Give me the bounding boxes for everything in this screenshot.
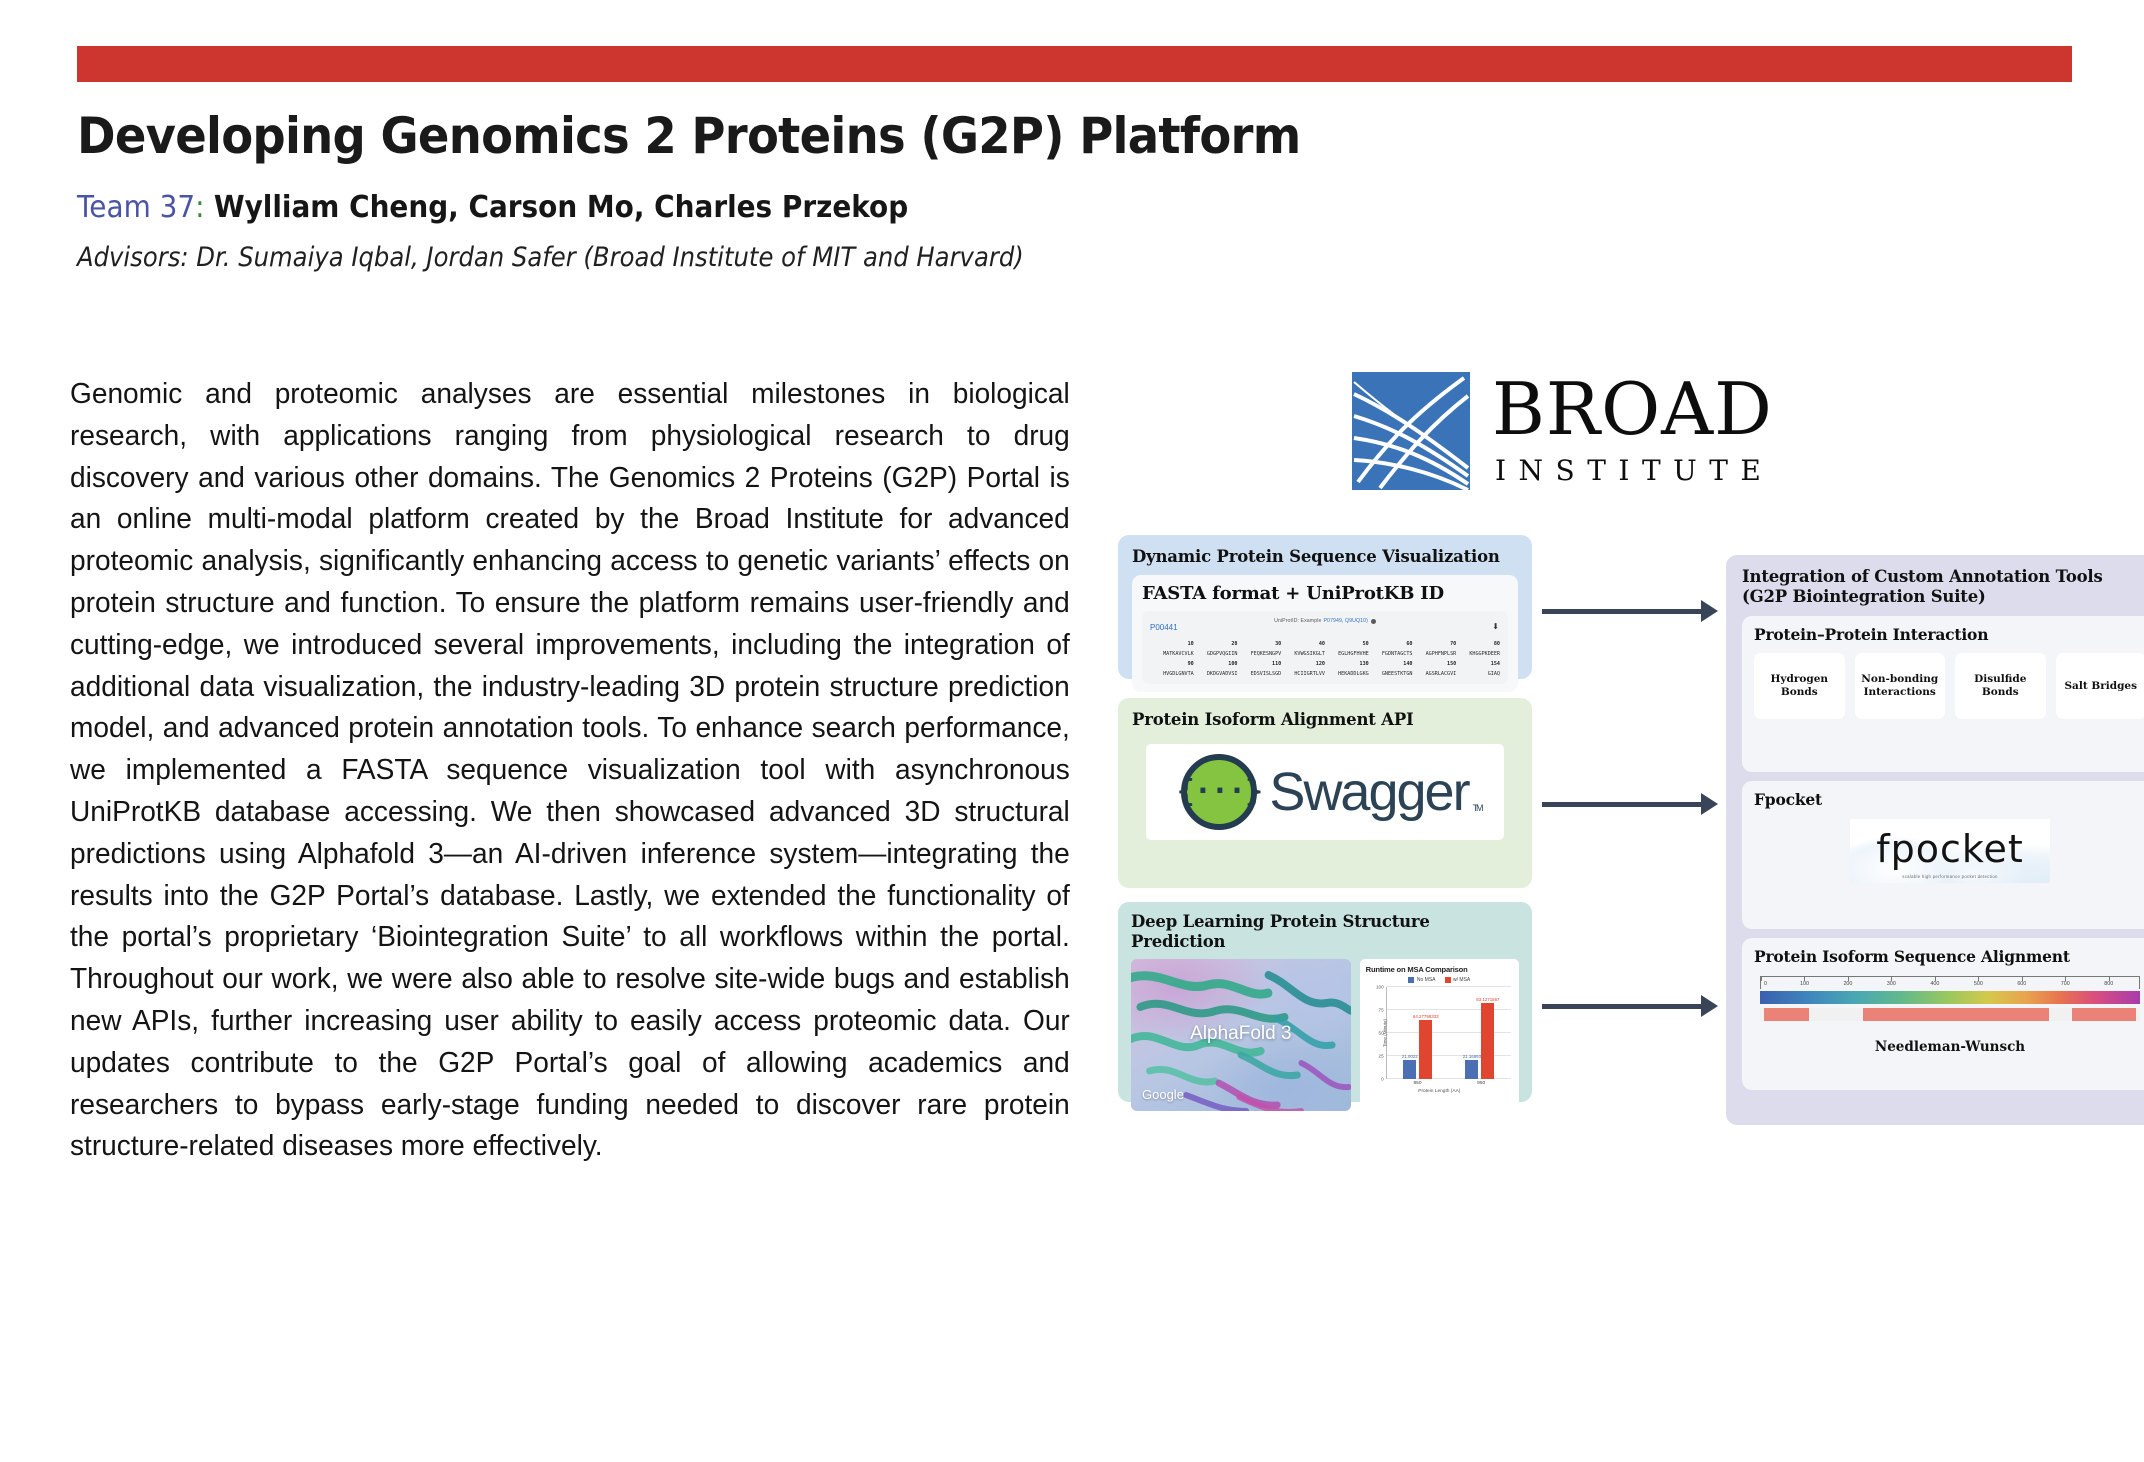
card-protein-protein-interaction: Protein–Protein Interaction Hydrogen Bon… [1742,616,2144,772]
legend-label: No MSA [1417,977,1436,983]
runtime-msa-bar-chart: Runtime on MSA Comparison No MSA w/ MSA … [1360,959,1519,1111]
seq-block: HEKADDLGKG [1325,671,1369,678]
chip-non-bonding-interactions[interactable]: Non-bonding Interactions [1855,653,1946,719]
panel-title: Dynamic Protein Sequence Visualization [1132,547,1518,567]
seq-block: KVWGSIKGLT [1281,651,1325,658]
fpocket-wordmark: fpocket [1876,830,2024,868]
chip-hydrogen-bonds[interactable]: Hydrogen Bonds [1754,653,1845,719]
card-protein-isoform-sequence-alignment: Protein Isoform Sequence Alignment 0 10 [1742,938,2144,1090]
seq-block: GIAQ [1456,671,1500,678]
chart-bar-label: 83.1271667 [1476,997,1499,1002]
alignment-hit-segment [1764,1008,1810,1021]
info-icon[interactable] [1371,619,1376,624]
google-credit-label: Google [1142,1087,1184,1102]
axis-tick [1761,977,1762,981]
header-accent-bar [77,46,2072,82]
swagger-logo: {···} Swagger TM [1146,744,1504,840]
legend-label: w/ MSA [1453,977,1470,983]
legend-item: w/ MSA [1445,977,1471,983]
poster-header: Developing Genomics 2 Proteins (G2P) Pla… [77,110,2072,273]
seq-position: 40 [1281,641,1325,648]
chart-y-tick: 100 [1376,985,1384,990]
uniprot-example-label: UniProtID: Example [1274,618,1321,624]
seq-position: 50 [1325,641,1369,648]
axis-tick-label: 800 [2104,981,2113,987]
chart-bar-label: 21.0022 [1402,1054,1418,1059]
deep-learning-content-row: AlphaFold 3 Google Runtime on MSA Compar… [1131,959,1519,1111]
alignment-hit-segment [2072,1008,2137,1021]
arrow-shaft [1542,802,1701,807]
axis-tick-label: 300 [1887,981,1896,987]
chart-y-tick: 25 [1379,1054,1384,1059]
card-title: Protein–Protein Interaction [1754,625,2144,644]
seq-block: EDSVISLSGD [1238,671,1282,678]
seq-position: 60 [1369,641,1413,648]
chart-x-axis-label: Protein Length (AA) [1366,1089,1513,1094]
broad-logo-main-text: BROAD [1492,375,1773,443]
uniprot-accession[interactable]: P00441 [1150,623,1178,632]
seq-block: HCIIGRTLVV [1281,671,1325,678]
arrow-api-to-integration [1542,793,1718,815]
author-names: Wylliam Cheng, Carson Mo, Charles Przeko… [214,190,908,225]
axis-tick-label: 400 [1930,981,1939,987]
seq-block: AGPHFNPLSR [1413,651,1457,658]
axis-tick-label: 200 [1843,981,1852,987]
chart-bar-label: 64.27798333 [1413,1014,1439,1019]
team-label: Team 37 [77,190,195,225]
seq-position: 30 [1238,641,1282,648]
page-title: Developing Genomics 2 Proteins (G2P) Pla… [77,110,1932,163]
seq-position: 70 [1413,641,1457,648]
chart-bar-group: 21.0022 64.27798333 [1403,987,1432,1079]
card-fpocket: Fpocket fpocket scalable high performanc… [1742,781,2144,929]
seq-block: KHGGPKDEER [1456,651,1500,658]
seq-position: 130 [1325,661,1369,668]
seq-block: GNEESTKTGN [1369,671,1413,678]
architecture-figure: Dynamic Protein Sequence Visualization F… [1118,535,2084,1135]
card-title: Protein Isoform Sequence Alignment [1754,947,2144,966]
swagger-mark-icon: {···} [1181,754,1257,830]
alignment-track: 0 100 200 300 400 500 600 700 800 [1760,976,2140,1021]
legend-item: No MSA [1408,977,1435,983]
seq-block: FEQKESNGPV [1238,651,1282,658]
seq-position: 90 [1150,661,1194,668]
seq-position: 120 [1281,661,1325,668]
chart-bar-group: 21.16893 83.1271667 [1465,987,1494,1079]
alignment-hit-track [1760,1008,2140,1021]
panel-title: Integration of Custom Annotation Tools (… [1742,567,2144,607]
swagger-wordmark: Swagger TM [1269,761,1468,823]
panel-protein-isoform-alignment-api: Protein Isoform Alignment API {···} Swag… [1118,698,1532,888]
arrow-prediction-to-integration [1542,995,1718,1017]
chart-bars: 21.0022 64.27798333 21.16893 83.1271667 [1387,987,1511,1079]
chart-y-tick: 50 [1379,1031,1384,1036]
axis-tick-label: 0 [1764,981,1767,987]
seq-block: MATKAVCVLK [1150,651,1194,658]
fpocket-tagline: scalable high performance pocket detecti… [1902,874,1998,879]
alphafold-label: AlphaFold 3 [1190,1023,1291,1045]
seq-position: 10 [1150,641,1194,648]
arrow-head-icon [1701,600,1718,622]
arrow-sequence-to-integration [1542,600,1718,622]
broad-logo-sub-text: INSTITUTE [1495,454,1773,487]
panel-title: Protein Isoform Alignment API [1132,710,1518,730]
axis-tick-label: 500 [1974,981,1983,987]
figure-left-column: Dynamic Protein Sequence Visualization F… [1118,535,1532,1135]
seq-block: FGDNTAGCTS [1369,651,1413,658]
seq-block: HVGDLGNVTA [1150,671,1194,678]
seq-position: 20 [1194,641,1238,648]
panel-deep-learning-protein-structure-prediction: Deep Learning Protein Structure Predicti… [1118,902,1532,1102]
panel-title: Deep Learning Protein Structure Predicti… [1131,912,1519,952]
chart-bar-label: 21.16893 [1463,1054,1481,1059]
swagger-braces-glyph: {···} [1177,777,1262,807]
seq-position: 150 [1413,661,1457,668]
chart-legend: No MSA w/ MSA [1366,977,1513,983]
chart-plot-area: Time (Minute) 0 25 50 75 100 21.0022 64.… [1386,987,1511,1079]
legend-swatch-no-msa [1408,977,1414,983]
seq-position: 140 [1369,661,1413,668]
panel-title-line-2: (G2P Biointegration Suite) [1742,587,2144,607]
alphafold-structure-image: AlphaFold 3 Google [1131,959,1351,1111]
alignment-hit-segment [1863,1008,2049,1021]
arrow-shaft [1542,609,1701,614]
seq-block: AGSRLACGVI [1413,671,1457,678]
fasta-viewer-header: UniProtID: Example P07949, Q9UQ10) [1150,616,1500,626]
axis-tick-label: 600 [2017,981,2026,987]
fasta-card: FASTA format + UniProtKB ID UniProtID: E… [1132,575,1518,692]
arrow-head-icon [1701,793,1718,815]
seq-position: 154 [1456,661,1500,668]
legend-swatch-w-msa [1445,977,1451,983]
chart-x-tick: 950 [1477,1081,1485,1086]
trademark-mark: TM [1473,803,1482,813]
seq-block: EGLHGFHVHE [1325,651,1369,658]
swagger-wordmark-text: Swagger [1269,762,1468,822]
seq-position: 80 [1456,641,1500,648]
chart-title: Runtime on MSA Comparison [1366,965,1513,974]
chip-salt-bridges[interactable]: Salt Bridges [2056,653,2144,719]
axis-tick-label: 700 [2061,981,2070,987]
fasta-sequence-grid: 10 20 30 40 50 60 70 80 MATKAVCVLK GDGPV… [1150,641,1500,678]
card-title: Fpocket [1754,790,2144,809]
fasta-viewer: UniProtID: Example P07949, Q9UQ10) P0044… [1142,611,1508,684]
panel-title-line-1: Integration of Custom Annotation Tools [1742,567,2144,587]
panel-integration-of-custom-annotation-tools: Integration of Custom Annotation Tools (… [1726,555,2144,1125]
seq-block: GDGPVQGIIN [1194,651,1238,658]
alignment-axis: 0 100 200 300 400 500 600 700 800 [1760,976,2140,989]
chart-x-tick: 850 [1413,1081,1421,1086]
chart-y-tick: 75 [1379,1008,1384,1013]
chart-y-tick: 0 [1381,1077,1384,1082]
seq-position: 100 [1194,661,1238,668]
chart-bar-w-msa: 83.1271667 [1481,1003,1494,1079]
chart-x-ticks: 850 950 [1386,1081,1513,1086]
chart-bar-no-msa: 21.16893 [1465,1060,1478,1080]
interaction-chip-row: Hydrogen Bonds Non-bonding Interactions … [1754,653,2144,719]
broad-logo-mark [1352,372,1470,490]
team-colon: : [195,190,204,225]
broad-logo-wordmark: BROAD INSTITUTE [1492,375,1773,486]
fpocket-logo: fpocket scalable high performance pocket… [1850,819,2050,883]
axis-tick-label: 100 [1800,981,1809,987]
alignment-algorithm-label: Needleman-Wunsch [1754,1039,2144,1055]
fasta-card-title: FASTA format + UniProtKB ID [1142,583,1508,604]
arrow-shaft [1542,1004,1701,1009]
alignment-gradient-bar [1760,991,2140,1004]
chip-disulfide-bonds[interactable]: Disulfide Bonds [1955,653,2046,719]
seq-position: 110 [1238,661,1282,668]
figure-right-column: Integration of Custom Annotation Tools (… [1726,555,2144,1125]
chart-bar-no-msa: 21.0022 [1403,1060,1416,1079]
arrow-head-icon [1701,995,1718,1017]
uniprot-example-links[interactable]: P07949, Q9UQ10) [1323,618,1367,624]
chart-bar-w-msa: 64.27798333 [1419,1020,1432,1079]
abstract-text: Genomic and proteomic analyses are essen… [70,374,1070,1168]
broad-institute-logo: BROAD INSTITUTE [1352,370,1802,492]
download-icon[interactable]: ⬇ [1492,622,1499,631]
seq-block: DKDGVADVSI [1194,671,1238,678]
authors-line: Team 37:Wylliam Cheng, Carson Mo, Charle… [77,191,1932,224]
panel-dynamic-protein-sequence-visualization: Dynamic Protein Sequence Visualization F… [1118,535,1532,679]
advisors-line: Advisors: Dr. Sumaiya Iqbal, Jordan Safe… [77,242,1873,273]
